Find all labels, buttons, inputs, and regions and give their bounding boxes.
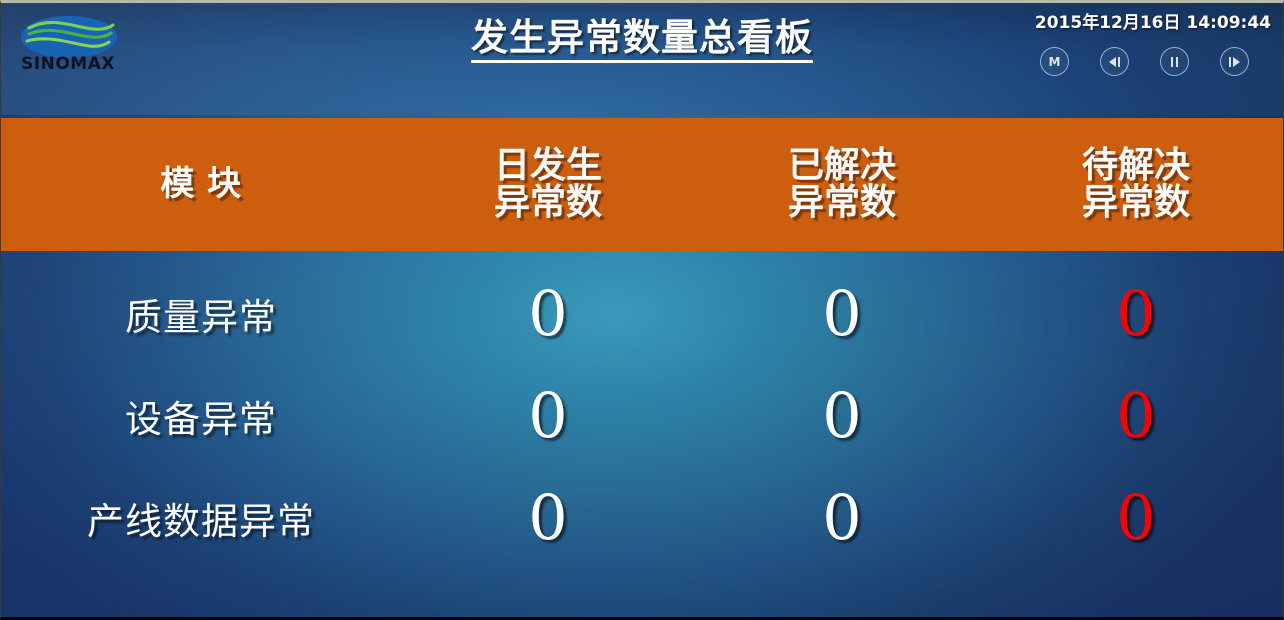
table-row: 产线数据异常 0 0 0 — [1, 467, 1283, 569]
column-header-daily-line1: 日发生 — [494, 145, 602, 186]
column-header-daily: 日发生 异常数 — [401, 118, 695, 251]
cell-production-line-resolved: 0 — [695, 487, 989, 549]
next-button[interactable] — [1220, 47, 1249, 76]
table-body: 质量异常 0 0 0 设备异常 0 0 0 产线数据异常 0 0 0 — [1, 251, 1283, 617]
column-header-resolved-line1: 已解决 — [788, 145, 896, 186]
column-header-module-label: 模 块 — [160, 167, 241, 202]
column-header-resolved-line2: 异常数 — [788, 185, 896, 222]
cell-equipment-resolved: 0 — [695, 385, 989, 447]
column-header-resolved: 已解决 异常数 — [695, 118, 989, 251]
m-letter-icon: M — [1049, 56, 1061, 68]
playback-controls: M — [1040, 47, 1249, 76]
cell-equipment-pending: 0 — [989, 385, 1283, 447]
row-label-equipment: 设备异常 — [1, 389, 401, 443]
column-header-pending: 待解决 异常数 — [989, 118, 1283, 251]
step-forward-icon — [1229, 57, 1240, 67]
cell-quality-daily: 0 — [401, 283, 695, 345]
column-header-pending-line1: 待解决 — [1082, 145, 1190, 186]
menu-button[interactable]: M — [1040, 47, 1069, 76]
pause-icon — [1171, 57, 1179, 67]
table-row: 质量异常 0 0 0 — [1, 263, 1283, 365]
cell-quality-pending: 0 — [989, 283, 1283, 345]
cell-equipment-daily: 0 — [401, 385, 695, 447]
column-header-daily-line2: 异常数 — [494, 185, 602, 222]
column-header-module: 模 块 — [1, 118, 401, 251]
table-row: 设备异常 0 0 0 — [1, 365, 1283, 467]
column-header-pending-line2: 异常数 — [1082, 185, 1190, 222]
cell-production-line-daily: 0 — [401, 487, 695, 549]
previous-button[interactable] — [1100, 47, 1129, 76]
row-label-production-line: 产线数据异常 — [1, 491, 401, 545]
table-header-row: 模 块 日发生 异常数 已解决 异常数 待解决 异常数 — [1, 118, 1283, 251]
header-bar: SINOMAX 发生异常数量总看板 2015年12月16日 14:09:44 M — [1, 3, 1283, 115]
row-label-quality: 质量异常 — [1, 287, 401, 341]
cell-quality-resolved: 0 — [695, 283, 989, 345]
kanban-board: 模 块 日发生 异常数 已解决 异常数 待解决 异常数 — [1, 115, 1283, 617]
pause-button[interactable] — [1160, 47, 1189, 76]
step-backward-icon — [1109, 57, 1120, 67]
datetime-display: 2015年12月16日 14:09:44 — [1035, 8, 1271, 33]
dashboard-screen: SINOMAX 发生异常数量总看板 2015年12月16日 14:09:44 M — [0, 0, 1284, 620]
cell-production-line-pending: 0 — [989, 487, 1283, 549]
page-title-text: 发生异常数量总看板 — [471, 17, 813, 63]
